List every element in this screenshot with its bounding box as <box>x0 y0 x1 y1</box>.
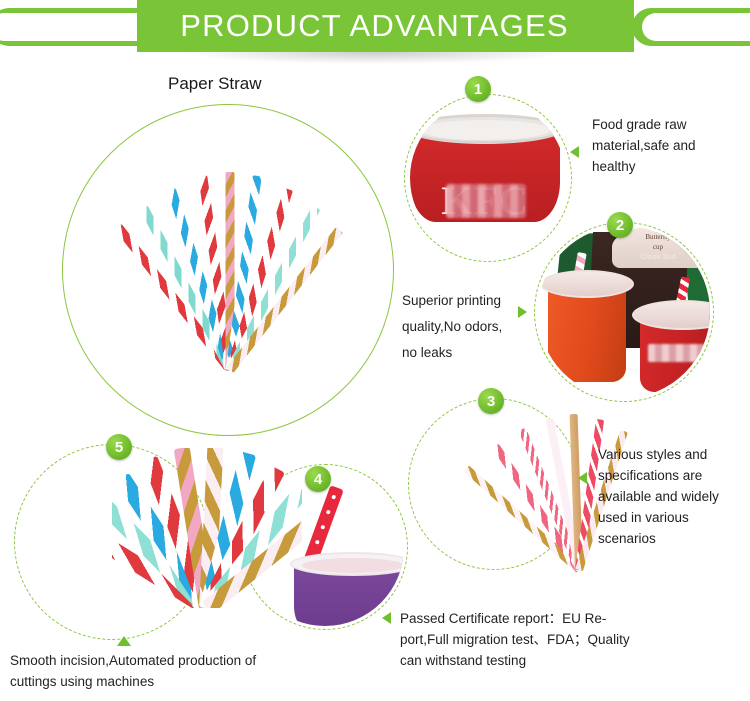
callout-1-text: Food grade raw material,safe and healthy <box>592 114 744 177</box>
callout-1-line: healthy <box>592 156 744 177</box>
callout-3-line: scenarios <box>598 528 748 549</box>
photo-straw-cut-ends-closeup <box>112 448 302 608</box>
callout-1-line: material,safe and <box>592 135 744 156</box>
callout-4-line: Passed Certificate report：EU Re- <box>400 608 750 629</box>
callout-5-arrow-icon <box>117 636 131 646</box>
badge-number-5: 5 <box>106 434 132 460</box>
callout-5-line: Smooth incision,Automated production of <box>10 650 410 671</box>
kfc-logo-blur <box>446 184 526 218</box>
header-shadow <box>185 52 565 64</box>
header-tab-cap <box>612 0 634 52</box>
straw-dot <box>320 525 325 530</box>
purple-cup-inner <box>302 558 404 573</box>
callout-2-line: no leaks <box>402 340 542 366</box>
page-title: PRODUCT ADVANTAGES <box>180 8 569 44</box>
header-banner: PRODUCT ADVANTAGES <box>0 0 750 60</box>
callout-2-line: quality,No odors, <box>402 314 542 340</box>
straw-dot <box>326 510 331 515</box>
callout-3-text: Various styles and specifications are av… <box>598 444 748 549</box>
badge-number-3: 3 <box>478 388 504 414</box>
callout-5-text: Smooth incision,Automated production of … <box>10 650 410 692</box>
callout-4-line: port,Full migration test、FDA；Quality <box>400 629 750 650</box>
callout-3-line: Various styles and <box>598 444 748 465</box>
callout-1-arrow-icon <box>570 146 579 158</box>
callout-3-arrow-icon <box>578 472 587 484</box>
header-decoration-right <box>632 8 750 46</box>
callout-4-text: Passed Certificate report：EU Re- port,Fu… <box>400 608 750 671</box>
callout-3-line: used in various <box>598 507 748 528</box>
callout-2-line: Superior printing <box>402 288 542 314</box>
callout-4-line: can withstand testing <box>400 650 750 671</box>
callout-3-line: specifications are <box>598 465 748 486</box>
carrier-brand-sub: cup <box>612 242 704 252</box>
red-cup-logo-blur <box>648 344 710 362</box>
product-label: Paper Straw <box>168 74 262 94</box>
straw-dot <box>315 540 320 545</box>
callout-4-arrow-icon <box>382 612 391 624</box>
photo-beverage-cups-with-straws: Butterfly cup Close 2nd Pick <box>538 226 710 398</box>
badge-number-4: 4 <box>305 466 331 492</box>
straw-dot <box>331 495 336 500</box>
infographic-canvas: PRODUCT ADVANTAGES Paper Straw ★ ★ ★ KFC… <box>0 0 750 701</box>
callout-5-line: cuttings using machines <box>10 671 410 692</box>
carrier-tagline: Close 2nd <box>612 252 704 261</box>
orange-cup-lid <box>540 270 634 298</box>
callout-2-text: Superior printing quality,No odors, no l… <box>402 288 542 366</box>
badge-number-1: 1 <box>465 76 491 102</box>
badge-number-2: 2 <box>607 212 633 238</box>
main-straw-fan <box>140 170 320 370</box>
callout-1-line: Food grade raw <box>592 114 744 135</box>
header-title-block: PRODUCT ADVANTAGES <box>137 0 612 52</box>
kfc-bucket-inner <box>420 120 550 140</box>
callout-3-line: available and widely <box>598 486 748 507</box>
